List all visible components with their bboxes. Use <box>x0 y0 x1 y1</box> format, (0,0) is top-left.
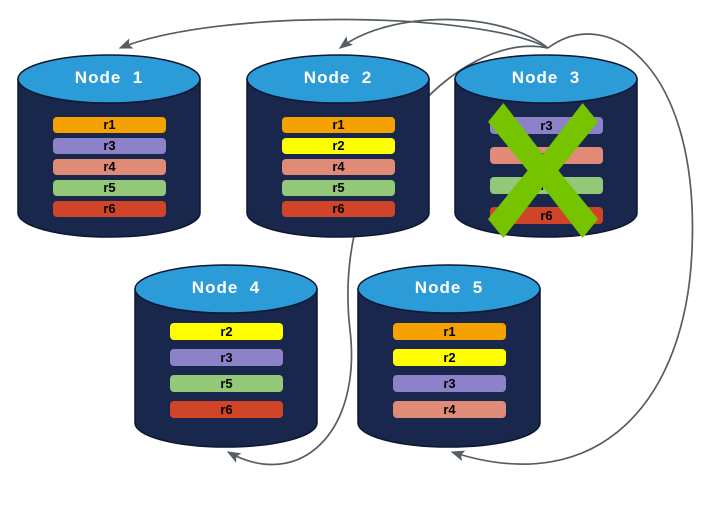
node-cylinder-1[interactable]: Node 1r1r3r4r5r6 <box>18 55 200 237</box>
replica-bar[interactable]: r1 <box>53 117 166 133</box>
cylinder-top-ellipse <box>247 55 429 103</box>
replica-bar[interactable]: r5 <box>53 180 166 196</box>
arrow-to-node-1 <box>120 19 548 48</box>
cylinder-top-ellipse <box>18 55 200 103</box>
replica-bar[interactable]: r4 <box>490 147 603 164</box>
replica-bar[interactable]: r5 <box>170 375 283 392</box>
cylinder-top-ellipse <box>455 55 637 103</box>
arrow-to-node-2 <box>340 20 548 49</box>
replica-bar[interactable]: r4 <box>53 159 166 175</box>
replica-bar[interactable]: r1 <box>393 323 506 340</box>
replica-bar[interactable]: r2 <box>282 138 395 154</box>
replica-bar[interactable]: r3 <box>53 138 166 154</box>
node-cylinder-5[interactable]: Node 5r1r2r3r4 <box>358 265 540 447</box>
diagram-canvas: Node 1r1r3r4r5r6Node 2r1r2r4r5r6Node 3r3… <box>0 0 708 508</box>
replica-bar[interactable]: r6 <box>53 201 166 217</box>
node-cylinder-2[interactable]: Node 2r1r2r4r5r6 <box>247 55 429 237</box>
replica-bar[interactable]: r6 <box>282 201 395 217</box>
cylinder-top-ellipse <box>358 265 540 313</box>
node-cylinder-4[interactable]: Node 4r2r3r5r6 <box>135 265 317 447</box>
replica-bar[interactable]: r3 <box>393 375 506 392</box>
replica-bar[interactable]: r2 <box>393 349 506 366</box>
replica-bar[interactable]: r3 <box>490 117 603 134</box>
replica-bar[interactable]: r1 <box>282 117 395 133</box>
replica-bar[interactable]: r4 <box>393 401 506 418</box>
replica-bar[interactable]: r3 <box>170 349 283 366</box>
replica-bar[interactable]: r6 <box>490 207 603 224</box>
replica-bar[interactable]: r2 <box>170 323 283 340</box>
cylinder-top-ellipse <box>135 265 317 313</box>
replica-bar[interactable]: r5 <box>282 180 395 196</box>
node-cylinder-3[interactable]: Node 3r3r4r5r6 <box>455 55 637 237</box>
replica-bar[interactable]: r5 <box>490 177 603 194</box>
replica-bar[interactable]: r6 <box>170 401 283 418</box>
replica-bar[interactable]: r4 <box>282 159 395 175</box>
